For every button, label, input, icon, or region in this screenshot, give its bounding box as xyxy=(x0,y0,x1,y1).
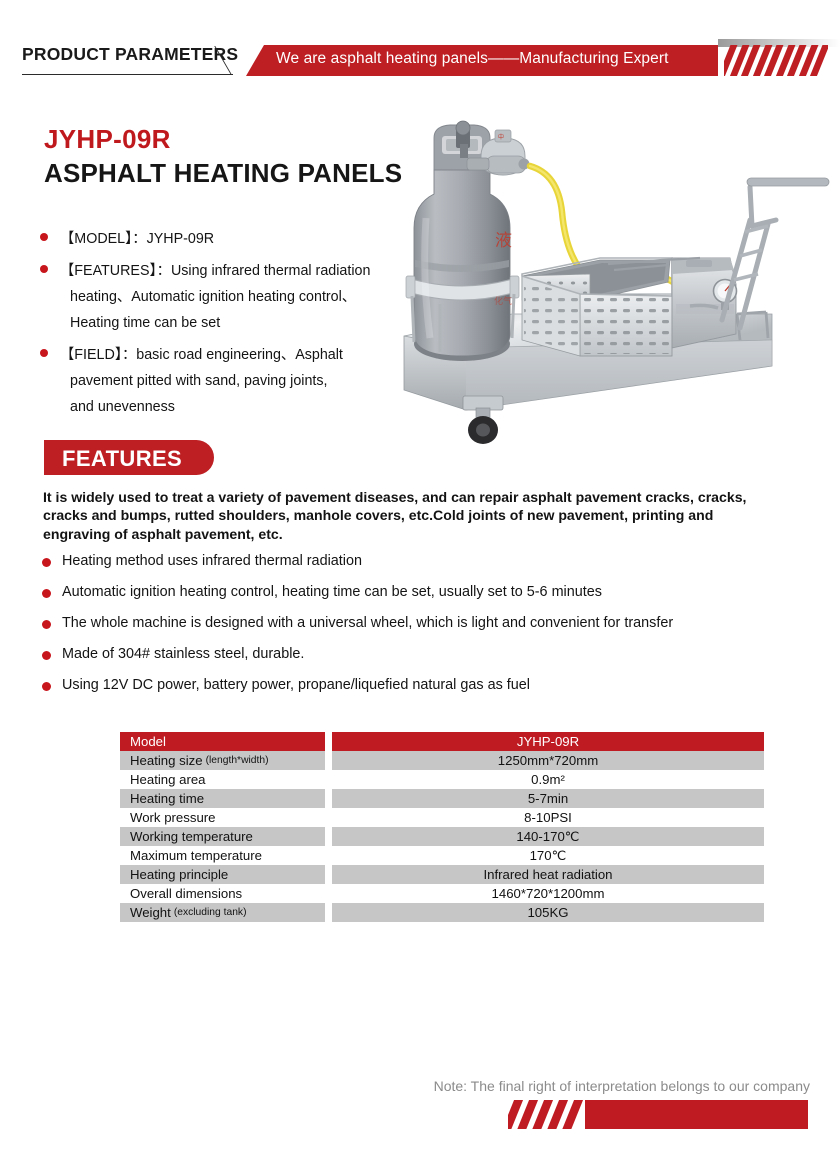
table-cell-key-text: Heating area xyxy=(130,772,206,787)
product-spec-bullet: 【FEATURES】：Using infrared thermal radiat… xyxy=(40,258,410,336)
table-cell-value: 1250mm*720mm xyxy=(332,751,764,770)
table-row: Weight(excluding tank)105KG xyxy=(120,903,764,922)
features-bullet-text: The whole machine is designed with a uni… xyxy=(62,615,673,631)
table-cell-key: Heating area xyxy=(120,770,325,789)
table-cell-key: Working temperature xyxy=(120,827,325,846)
table-column-gap xyxy=(325,808,332,827)
footer-note: Note: The final right of interpretation … xyxy=(0,1078,810,1094)
header-stripe-group xyxy=(724,45,828,76)
product-spec-bullet-line: 【FEATURES】：Using infrared thermal radiat… xyxy=(60,258,410,284)
table-cell-key: Overall dimensions xyxy=(120,884,325,903)
footer-stripe-group xyxy=(508,1100,588,1129)
product-model-title: JYHP-09R xyxy=(44,124,171,155)
table-row: Heating area0.9m² xyxy=(120,770,764,789)
table-row: Work pressure8-10PSI xyxy=(120,808,764,827)
table-cell-key-text: Maximum temperature xyxy=(130,848,262,863)
table-cell-value: 0.9m² xyxy=(332,770,764,789)
table-cell-value: JYHP-09R xyxy=(332,732,764,751)
table-column-gap xyxy=(325,865,332,884)
svg-text:中: 中 xyxy=(498,133,504,141)
footer-bar xyxy=(585,1100,808,1129)
bullet-dot-icon xyxy=(42,589,51,598)
table-row: Heating time5-7min xyxy=(120,789,764,808)
table-column-gap xyxy=(325,770,332,789)
bullet-dot-icon xyxy=(42,620,51,629)
bullet-dot-icon xyxy=(40,233,48,241)
table-cell-value: 5-7min xyxy=(332,789,764,808)
table-cell-value: 1460*720*1200mm xyxy=(332,884,764,903)
table-column-gap xyxy=(325,846,332,865)
table-cell-key-text: Weight xyxy=(130,905,171,920)
header-underline xyxy=(22,74,233,75)
product-spec-bullet-line: 【FIELD】：basic road engineering、Asphalt xyxy=(60,342,410,368)
table-column-gap xyxy=(325,903,332,922)
table-column-gap xyxy=(325,751,332,770)
page-title: PRODUCT PARAMETERS xyxy=(22,44,238,65)
table-row: ModelJYHP-09R xyxy=(120,732,764,751)
product-spec-bullet-line: pavement pitted with sand, paving joints… xyxy=(60,368,410,394)
table-cell-key-text: Heating time xyxy=(130,791,204,806)
table-cell-key: Model xyxy=(120,732,325,751)
product-spec-bullet-line: 【MODEL】：JYHP-09R xyxy=(60,226,410,252)
product-spec-bullet: 【FIELD】：basic road engineering、Asphaltpa… xyxy=(40,342,410,420)
specification-table: ModelJYHP-09RHeating size(length*width)1… xyxy=(120,732,764,922)
bullet-dot-icon xyxy=(40,349,48,357)
page-header: PRODUCT PARAMETERS We are asphalt heatin… xyxy=(0,0,840,100)
features-section-tag: FEATURES xyxy=(44,440,214,475)
product-spec-bullet-line: Heating time can be set xyxy=(60,310,410,336)
table-column-gap xyxy=(325,732,332,751)
table-cell-key: Work pressure xyxy=(120,808,325,827)
features-description: It is widely used to treat a variety of … xyxy=(43,488,783,543)
svg-text:化气: 化气 xyxy=(494,295,512,307)
product-photo: 液 化气 中 xyxy=(400,108,840,460)
table-cell-key: Weight(excluding tank) xyxy=(120,903,325,922)
table-cell-value: 170℃ xyxy=(332,846,764,865)
table-cell-key-text: Heating principle xyxy=(130,867,228,882)
features-bullet-item: The whole machine is designed with a uni… xyxy=(40,612,800,643)
header-banner-text: We are asphalt heating panels——Manufactu… xyxy=(276,50,669,68)
table-cell-key: Maximum temperature xyxy=(120,846,325,865)
table-row: Maximum temperature170℃ xyxy=(120,846,764,865)
features-bullet-item: Made of 304# stainless steel, durable. xyxy=(40,643,800,674)
table-cell-key: Heating time xyxy=(120,789,325,808)
table-cell-key-text: Working temperature xyxy=(130,829,253,844)
table-cell-value: 105KG xyxy=(332,903,764,922)
table-row: Heating size(length*width)1250mm*720mm xyxy=(120,751,764,770)
table-cell-key-text: Model xyxy=(130,734,166,749)
product-name-title: ASPHALT HEATING PANELS xyxy=(44,158,402,189)
features-bullet-text: Made of 304# stainless steel, durable. xyxy=(62,646,304,662)
product-spec-bullet-list: 【MODEL】：JYHP-09R【FEATURES】：Using infrare… xyxy=(40,226,410,426)
product-spec-bullet: 【MODEL】：JYHP-09R xyxy=(40,226,410,252)
table-cell-key: Heating size(length*width) xyxy=(120,751,325,770)
table-row: Heating principleInfrared heat radiation xyxy=(120,865,764,884)
table-cell-value: Infrared heat radiation xyxy=(332,865,764,884)
features-bullet-item: Automatic ignition heating control, heat… xyxy=(40,581,800,612)
product-spec-bullet-line: and unevenness xyxy=(60,394,410,420)
table-cell-key-text: Overall dimensions xyxy=(130,886,242,901)
table-column-gap xyxy=(325,827,332,846)
bullet-dot-icon xyxy=(40,265,48,273)
table-column-gap xyxy=(325,789,332,808)
table-cell-value: 140-170℃ xyxy=(332,827,764,846)
table-row: Overall dimensions1460*720*1200mm xyxy=(120,884,764,903)
table-column-gap xyxy=(325,884,332,903)
features-bullet-item: Using 12V DC power, battery power, propa… xyxy=(40,674,800,705)
table-cell-key-subtext: (excluding tank) xyxy=(174,907,247,918)
bullet-dot-icon xyxy=(42,682,51,691)
table-cell-key-subtext: (length*width) xyxy=(206,755,269,766)
table-cell-value: 8-10PSI xyxy=(332,808,764,827)
features-bullet-list: Heating method uses infrared thermal rad… xyxy=(40,550,800,705)
features-bullet-text: Heating method uses infrared thermal rad… xyxy=(62,553,362,569)
table-cell-key-text: Work pressure xyxy=(130,810,216,825)
features-bullet-text: Using 12V DC power, battery power, propa… xyxy=(62,677,530,693)
product-photo-illustration: 液 化气 中 xyxy=(400,108,840,460)
bullet-dot-icon xyxy=(42,651,51,660)
features-tag-label: FEATURES xyxy=(62,446,182,472)
table-cell-key: Heating principle xyxy=(120,865,325,884)
bullet-dot-icon xyxy=(42,558,51,567)
svg-text:液: 液 xyxy=(495,231,512,251)
table-row: Working temperature140-170℃ xyxy=(120,827,764,846)
features-bullet-text: Automatic ignition heating control, heat… xyxy=(62,584,602,600)
product-spec-bullet-line: heating、Automatic ignition heating contr… xyxy=(60,284,410,310)
table-cell-key-text: Heating size xyxy=(130,753,203,768)
features-bullet-item: Heating method uses infrared thermal rad… xyxy=(40,550,800,581)
